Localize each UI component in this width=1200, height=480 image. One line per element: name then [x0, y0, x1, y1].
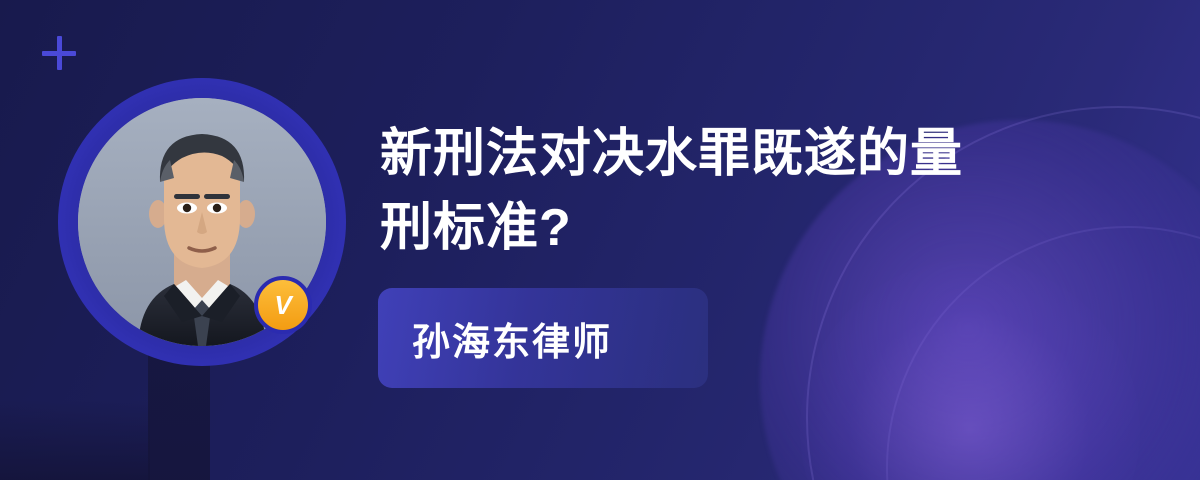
lawyer-name-pill[interactable]: 孙海东律师 — [378, 288, 708, 388]
avatar: V — [58, 78, 346, 366]
lawyer-name-label: 孙海东律师 — [412, 311, 612, 366]
background-left-band-lower — [0, 400, 150, 480]
lawyer-question-banner: V 新刑法对决水罪既遂的量 刑标准? 孙海东律师 — [0, 0, 1200, 480]
plus-icon — [42, 36, 78, 72]
page-title: 新刑法对决水罪既遂的量 刑标准? — [380, 118, 1160, 266]
verified-badge-icon: V — [254, 276, 312, 334]
